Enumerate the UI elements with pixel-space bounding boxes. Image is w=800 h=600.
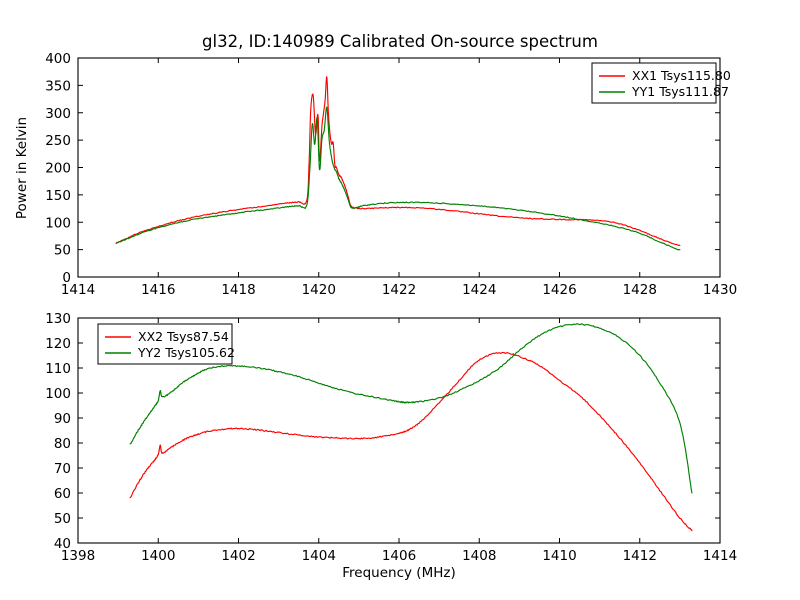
x-tick-label: 1402 [221,548,255,564]
x-tick-label: 1420 [302,282,336,298]
y-tick-label: 90 [54,411,71,427]
x-tick-label: 1416 [141,282,175,298]
bottom-legend-label-yy2: YY2 Tsys105.62 [137,345,235,360]
x-tick-label: 1414 [703,548,737,564]
y-tick-label: 60 [54,486,71,502]
y-tick-label: 80 [54,436,71,452]
x-tick-label: 1412 [623,548,657,564]
x-tick-label: 1404 [302,548,336,564]
bottom-panel-x-tick-labels: 139814001402140414061408141014121414 [61,548,737,564]
x-tick-label: 1406 [382,548,416,564]
bottom-legend-label-xx2: XX2 Tsys87.54 [138,329,229,344]
top-panel-legend[interactable]: XX1 Tsys115.80 YY1 Tsys111.87 [592,63,731,103]
y-tick-label: 110 [45,361,71,377]
spectrum-figure: gl32, ID:140989 Calibrated On-source spe… [0,0,800,600]
y-tick-label: 250 [45,133,71,149]
x-tick-label: 1428 [623,282,657,298]
top-panel-y-axis-label: Power in Kelvin [14,117,30,219]
y-tick-label: 350 [45,78,71,94]
x-tick-label: 1410 [542,548,576,564]
y-tick-label: 150 [45,188,71,204]
x-tick-label: 1424 [462,282,496,298]
figure-canvas: gl32, ID:140989 Calibrated On-source spe… [0,0,800,600]
y-tick-label: 50 [54,511,71,527]
y-tick-label: 100 [45,386,71,402]
y-tick-label: 50 [54,243,71,259]
x-tick-label: 1418 [221,282,255,298]
y-tick-label: 120 [45,336,71,352]
y-tick-label: 100 [45,215,71,231]
y-tick-label: 70 [54,461,71,477]
y-tick-label: 200 [45,161,71,177]
figure-title: gl32, ID:140989 Calibrated On-source spe… [202,32,598,51]
y-tick-label: 400 [45,51,71,67]
bottom-panel-legend[interactable]: XX2 Tsys87.54 YY2 Tsys105.62 [98,324,235,364]
top-legend-label-yy1: YY1 Tsys111.87 [631,84,729,99]
top-legend-label-xx1: XX1 Tsys115.80 [632,68,731,83]
bottom-panel-x-axis-label: Frequency (MHz) [342,565,455,581]
y-tick-label: 0 [62,270,71,286]
x-tick-label: 1422 [382,282,416,298]
x-tick-label: 1400 [141,548,175,564]
x-tick-label: 1430 [703,282,737,298]
y-tick-label: 40 [54,536,71,552]
x-tick-label: 1426 [542,282,576,298]
top-panel-x-tick-labels: 141414161418142014221424142614281430 [61,282,737,298]
y-tick-label: 130 [45,311,71,327]
y-tick-label: 300 [45,106,71,122]
x-tick-label: 1408 [462,548,496,564]
